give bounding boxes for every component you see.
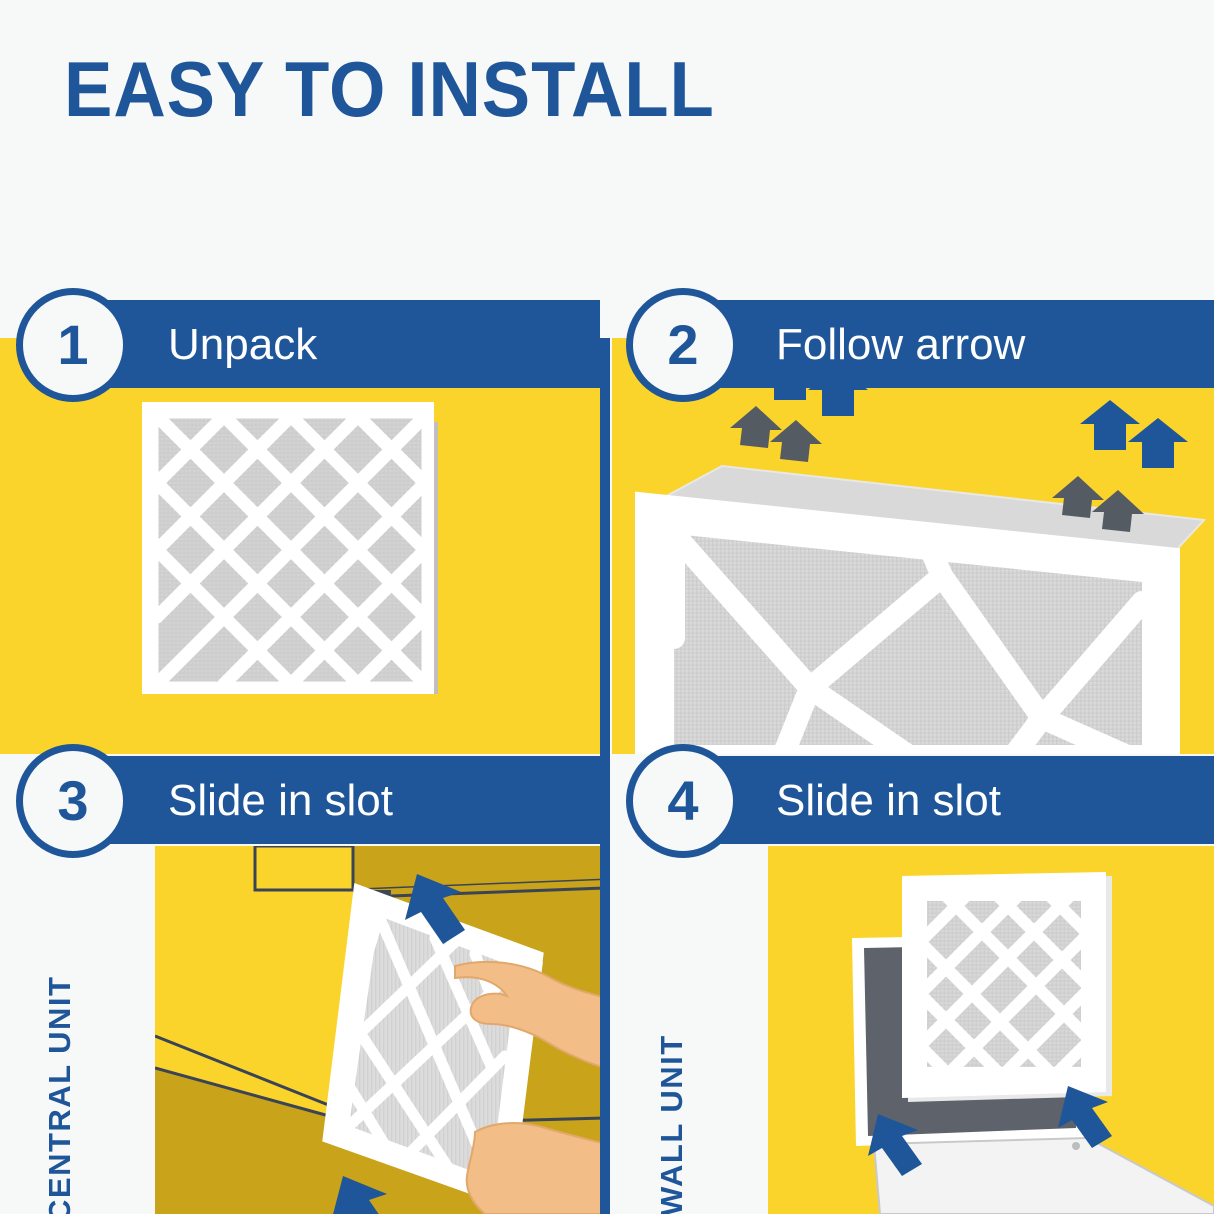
step-4-number: 4 (667, 773, 698, 829)
step-1-illustration (0, 338, 600, 754)
step-4-badge: 4 (626, 744, 740, 858)
step-2-number: 2 (667, 317, 698, 373)
page-title: EASY TO INSTALL (64, 50, 715, 128)
step-2-label: Follow arrow (776, 320, 1025, 370)
wall-unit-insert-icon (768, 846, 1214, 1214)
step-panel-3 (155, 846, 605, 1214)
central-unit-insert-icon (155, 846, 605, 1214)
step-4-illustration (768, 846, 1214, 1214)
step-1-label: Unpack (168, 320, 317, 370)
step-3-illustration (155, 846, 605, 1214)
step-3-label: Slide in slot (168, 776, 393, 826)
step-panel-2 (612, 338, 1214, 754)
step-4-side-label: WALL UNIT (654, 1034, 690, 1214)
step-4-label: Slide in slot (776, 776, 1001, 826)
step-3-side-label: CENTRAL UNIT (42, 976, 78, 1214)
airflow-arrow-gray (730, 406, 822, 462)
tilted-air-filter-icon (612, 338, 1214, 754)
infographic-root: EASY TO INSTALL (0, 0, 1214, 1214)
step-3-badge: 3 (16, 744, 130, 858)
step-1-number: 1 (57, 317, 88, 373)
step-1-header-bar (70, 300, 600, 388)
step-2-badge: 2 (626, 288, 740, 402)
airflow-arrow-blue (1080, 400, 1188, 468)
step-panel-4 (768, 846, 1214, 1214)
step-1-badge: 1 (16, 288, 130, 402)
step-3-number: 3 (57, 773, 88, 829)
air-filter-front-icon (0, 338, 600, 754)
step-panel-1 (0, 338, 600, 754)
panel-divider-vertical (600, 338, 610, 1214)
step-2-illustration (612, 338, 1214, 754)
